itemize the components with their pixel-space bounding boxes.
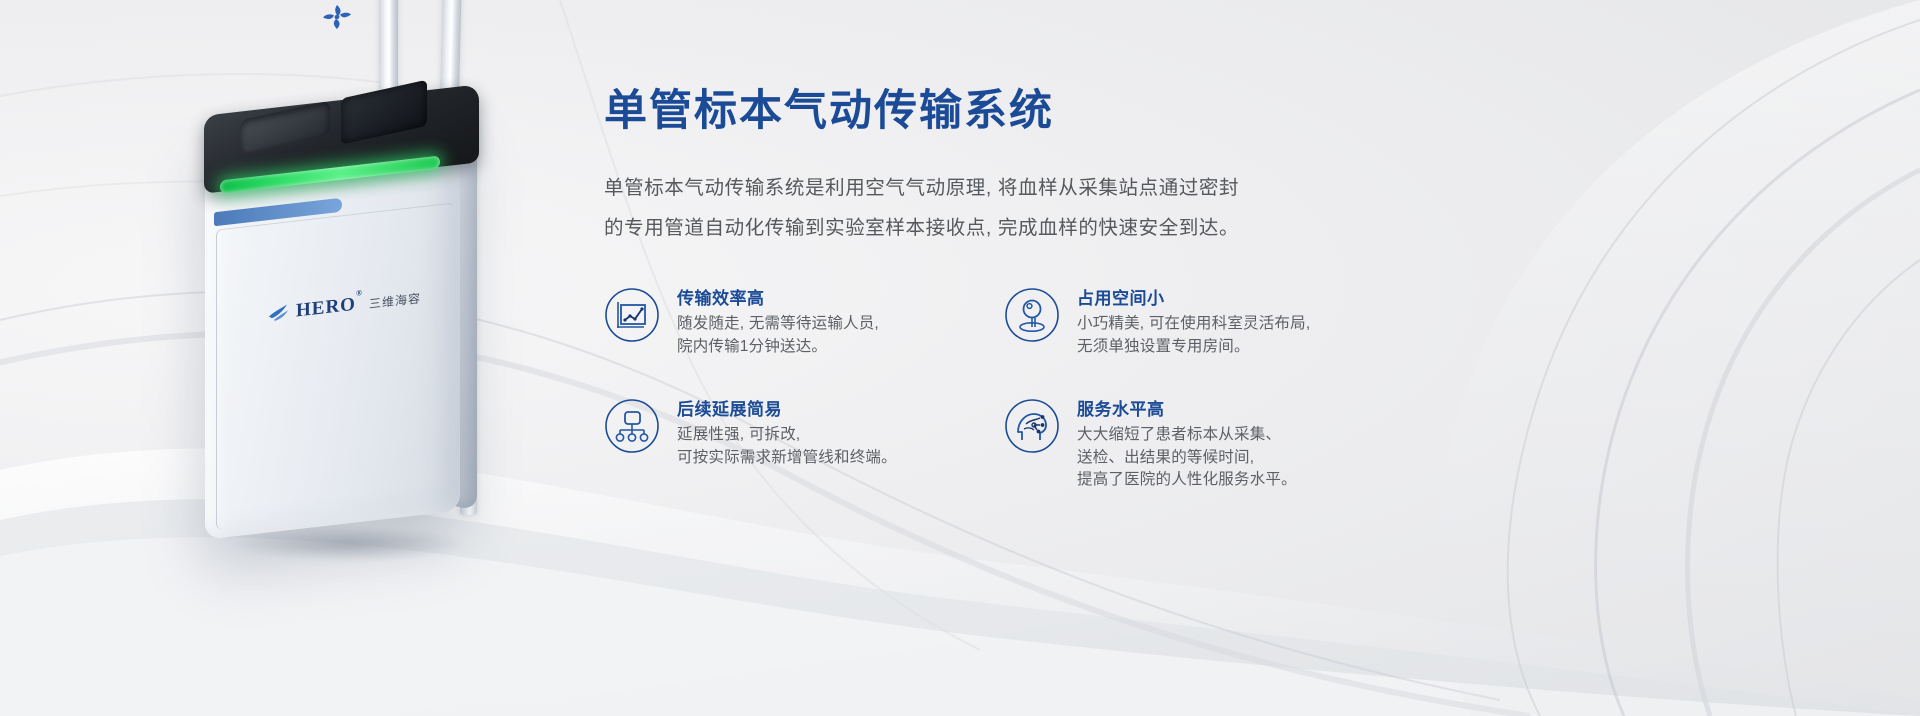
page-title: 单管标本气动传输系统: [604, 88, 1364, 135]
chart-growth-icon: [604, 287, 660, 343]
smart-head-icon: [1004, 398, 1060, 454]
feature-title: 服务水平高: [1077, 395, 1297, 420]
feature-title: 传输效率高: [677, 284, 879, 309]
device-top-port: [341, 80, 427, 145]
device-door-seam: [216, 202, 454, 529]
feature-text: 占用空间小 小巧精美, 可在使用科室灵活布局, 无须单独设置专用房间。: [1077, 283, 1310, 358]
brand-name-cn: 三维海容: [369, 289, 421, 312]
feature-item-space-saving: 占用空间小 小巧精美, 可在使用科室灵活布局, 无须单独设置专用房间。: [1004, 283, 1404, 358]
network-tree-icon: [604, 398, 660, 454]
feature-line: 可按实际需求新增管线和终端。: [677, 447, 897, 469]
feature-text: 后续延展简易 延展性强, 可拆改, 可按实际需求新增管线和终端。: [677, 394, 897, 469]
feature-item-transfer-efficiency: 传输效率高 随发随走, 无需等待运输人员, 院内传输1分钟送达。: [604, 283, 1004, 358]
feature-line: 提高了医院的人性化服务水平。: [1077, 469, 1297, 491]
feature-grid: 传输效率高 随发随走, 无需等待运输人员, 院内传输1分钟送达。 占用空间小 小…: [604, 283, 1364, 491]
brand-registered-mark: ®: [356, 288, 363, 298]
feature-line: 大大缩短了患者标本从采集、: [1077, 424, 1297, 446]
feature-text: 传输效率高 随发随走, 无需等待运输人员, 院内传输1分钟送达。: [677, 283, 879, 358]
hero-bird-icon: [268, 302, 290, 325]
content-column: 单管标本气动传输系统 单管标本气动传输系统是利用空气气动原理, 将血样从采集站点…: [604, 0, 1364, 716]
feature-item-service-level: 服务水平高 大大缩短了患者标本从采集、 送检、出结果的等候时间, 提高了医院的人…: [1004, 394, 1404, 491]
fan-icon: [320, 0, 354, 34]
feature-item-easy-extension: 后续延展简易 延展性强, 可拆改, 可按实际需求新增管线和终端。: [604, 394, 1004, 491]
space-pin-icon: [1004, 287, 1060, 343]
feature-line: 无须单独设置专用房间。: [1077, 336, 1310, 358]
feature-line: 小巧精美, 可在使用科室灵活布局,: [1077, 313, 1310, 335]
product-image: HERO® 三维海容: [160, 0, 580, 600]
feature-text: 服务水平高 大大缩短了患者标本从采集、 送检、出结果的等候时间, 提高了医院的人…: [1077, 394, 1297, 491]
feature-title: 占用空间小: [1077, 284, 1310, 309]
feature-line: 院内传输1分钟送达。: [677, 336, 879, 358]
feature-title: 后续延展简易: [677, 395, 897, 420]
feature-line: 送检、出结果的等候时间,: [1077, 447, 1297, 469]
feature-line: 随发随走, 无需等待运输人员,: [677, 313, 879, 335]
feature-line: 延展性强, 可拆改,: [677, 424, 897, 446]
device-top-slot: [240, 101, 330, 155]
banner-stage: HERO® 三维海容 单管标本气动传输系统 单管标本气动传输系统是利用空气气动原…: [0, 0, 1920, 716]
page-description: 单管标本气动传输系统是利用空气气动原理, 将血样从采集站点通过密封的专用管道自动…: [604, 169, 1252, 249]
